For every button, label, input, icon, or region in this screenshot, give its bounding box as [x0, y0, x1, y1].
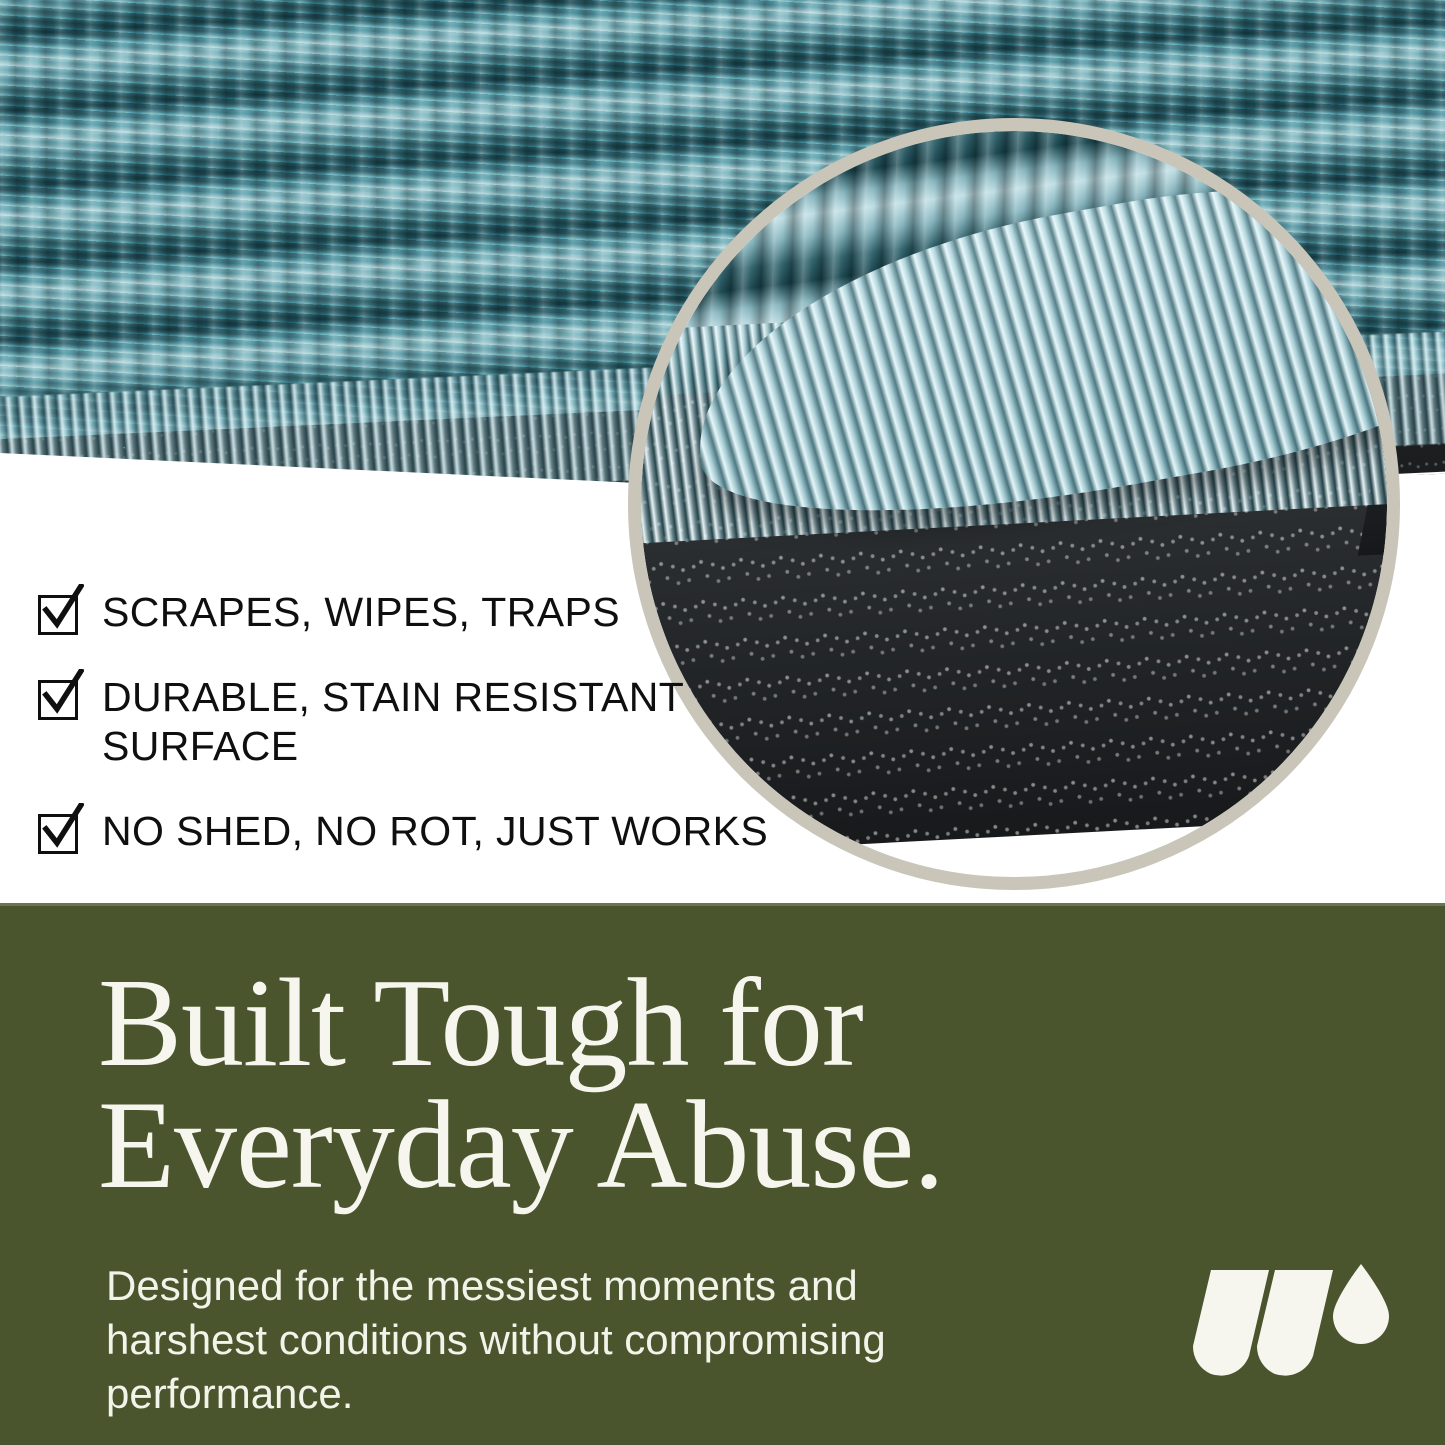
checklist-item-label: NO SHED, NO ROT, JUST WORKS [102, 807, 768, 856]
promo-panel: Built Tough for Everyday Abuse. Designed… [0, 903, 1445, 1445]
promo-subcopy: Designed for the messiest moments and ha… [106, 1259, 986, 1421]
promo-headline: Built Tough for Everyday Abuse. [98, 963, 1198, 1207]
checklist-item: DURABLE, STAIN RESISTANT SURFACE [36, 673, 796, 771]
checked-checkbox-icon [36, 675, 82, 721]
checked-checkbox-icon [36, 590, 82, 636]
checklist-item: NO SHED, NO ROT, JUST WORKS [36, 807, 796, 856]
checked-checkbox-icon [36, 809, 82, 855]
checklist-item-label: SCRAPES, WIPES, TRAPS [102, 588, 620, 637]
marketing-infographic: SCRAPES, WIPES, TRAPS DURABLE, STAIN RES… [0, 0, 1445, 1445]
checklist-item: SCRAPES, WIPES, TRAPS [36, 588, 796, 637]
feature-checklist: SCRAPES, WIPES, TRAPS DURABLE, STAIN RES… [36, 588, 796, 856]
checklist-item-label: DURABLE, STAIN RESISTANT SURFACE [102, 673, 684, 771]
w-droplet-logo-icon [1185, 1252, 1400, 1387]
